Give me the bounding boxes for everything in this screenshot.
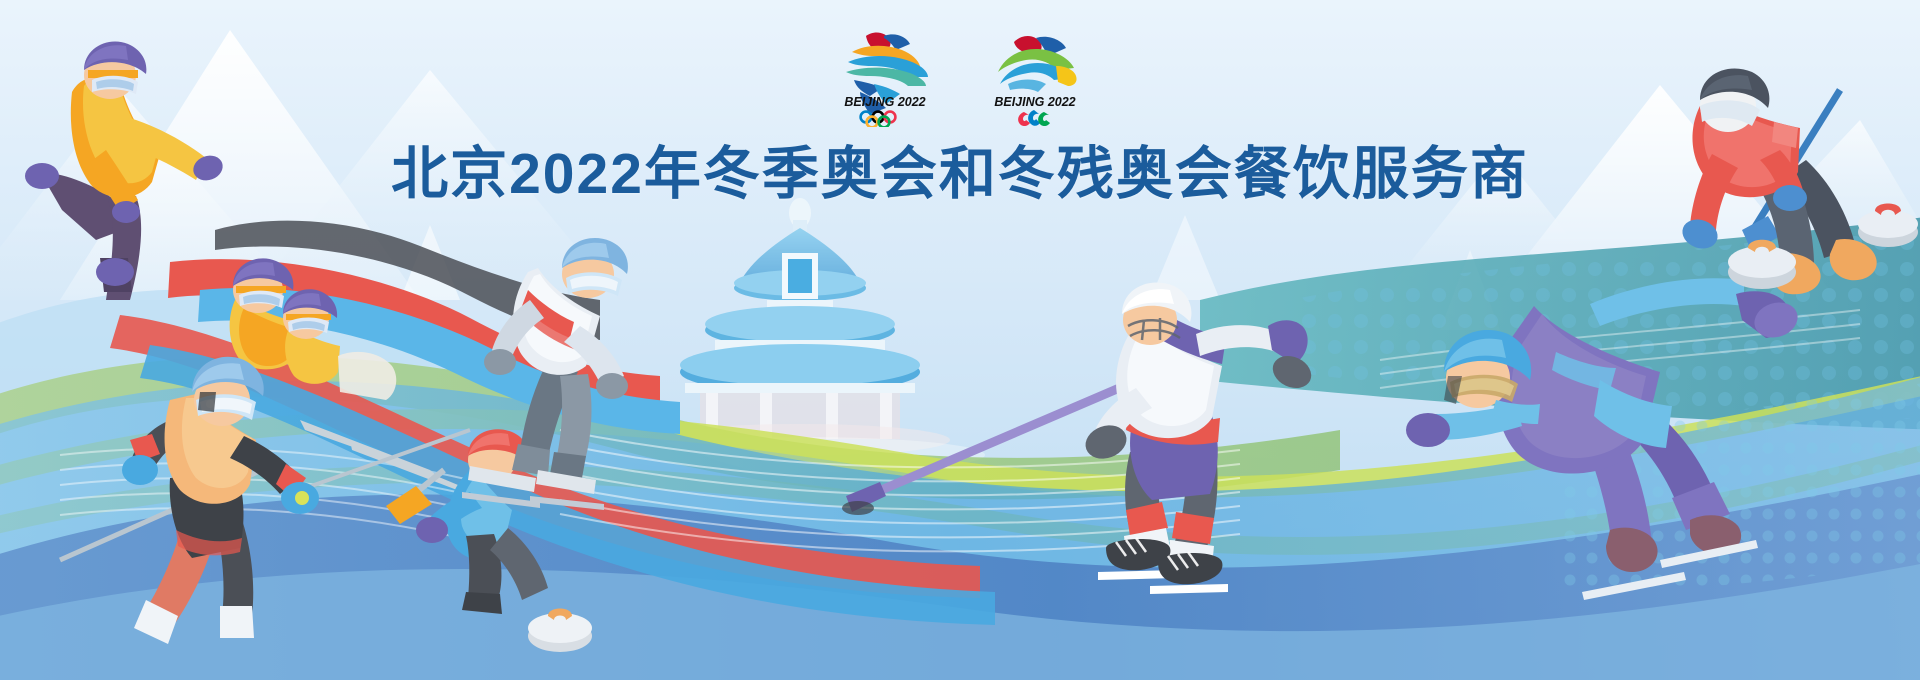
emblem-row: BEIJING 2022 BEIJING 2022 bbox=[0, 22, 1920, 127]
curling-stone-loose bbox=[1858, 204, 1918, 248]
beijing-2022-paralympic-emblem: BEIJING 2022 bbox=[980, 22, 1090, 127]
olympic-banner: BEIJING 2022 BEIJING 2022 bbox=[0, 0, 1920, 680]
olympic-wordmark: BEIJING 2022 bbox=[844, 95, 925, 109]
beijing-2022-olympic-emblem: BEIJING 2022 bbox=[830, 22, 940, 127]
olympic-rings bbox=[861, 112, 896, 127]
ice-hockey-player bbox=[842, 282, 1316, 594]
bobsleigh-rider-3 bbox=[283, 289, 340, 384]
page-title: 北京2022年冬季奥会和冬残奥会餐饮服务商 bbox=[0, 128, 1920, 210]
paralympic-wordmark: BEIJING 2022 bbox=[994, 95, 1075, 109]
speed-skater-right bbox=[1406, 278, 1802, 600]
agitos-symbol bbox=[1018, 110, 1050, 126]
